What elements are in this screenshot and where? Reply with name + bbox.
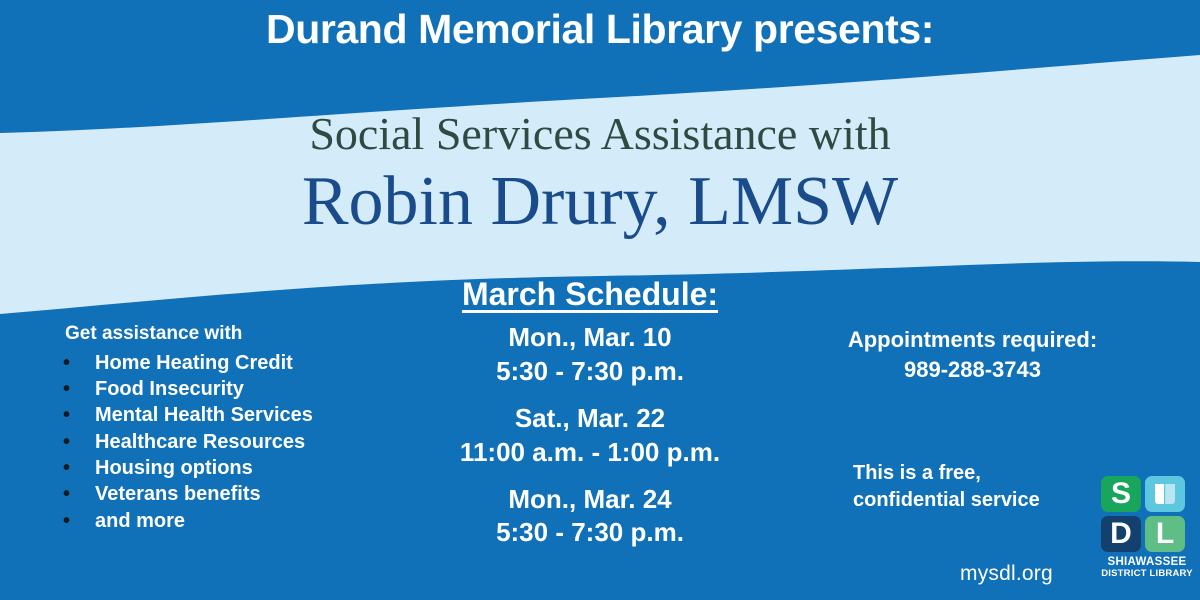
session-date: Mon., Mar. 10 bbox=[390, 321, 790, 355]
bullet-icon: • bbox=[63, 508, 70, 534]
bullet-icon: • bbox=[63, 429, 70, 455]
list-item-label: Healthcare Resources bbox=[95, 431, 305, 453]
page-title: Durand Memorial Library presents: bbox=[0, 8, 1200, 51]
presenter-name: Robin Drury, LMSW bbox=[0, 163, 1200, 241]
list-item-label: Veterans benefits bbox=[95, 483, 261, 505]
schedule-session: Sat., Mar. 22 11:00 a.m. - 1:00 p.m. bbox=[390, 402, 790, 470]
schedule-session: Mon., Mar. 10 5:30 - 7:30 p.m. bbox=[390, 321, 790, 389]
phone-number[interactable]: 989-288-3743 bbox=[795, 355, 1150, 385]
session-time: 5:30 - 7:30 p.m. bbox=[390, 355, 790, 389]
open-book-icon bbox=[1145, 476, 1185, 512]
logo-caption-line-1: SHIAWASSEE bbox=[1101, 557, 1193, 569]
bullet-icon: • bbox=[63, 455, 70, 481]
appointments-label: Appointments required: bbox=[848, 327, 1097, 352]
logo-tile-s: S bbox=[1101, 476, 1141, 512]
list-item: • Veterans benefits bbox=[45, 481, 415, 507]
logo-tile-grid: S D L bbox=[1101, 476, 1187, 554]
poster-canvas: Durand Memorial Library presents: Social… bbox=[0, 0, 1200, 600]
contact-column: Appointments required: 989-288-3743 This… bbox=[795, 325, 1150, 514]
list-item: • and more bbox=[45, 508, 415, 534]
assistance-intro: Get assistance with bbox=[65, 322, 415, 346]
subtitle-heading: Social Services Assistance with bbox=[0, 108, 1200, 160]
list-item: • Food Insecurity bbox=[45, 376, 415, 402]
list-item-label: Housing options bbox=[95, 457, 253, 479]
appointments-block: Appointments required: 989-288-3743 bbox=[795, 325, 1150, 384]
schedule-session: Mon., Mar. 24 5:30 - 7:30 p.m. bbox=[390, 483, 790, 551]
logo-caption: SHIAWASSEE DISTRICT LIBRARY bbox=[1101, 557, 1193, 578]
list-item: • Housing options bbox=[45, 455, 415, 481]
list-item-label: and more bbox=[95, 510, 185, 532]
schedule-column: March Schedule: Mon., Mar. 10 5:30 - 7:3… bbox=[390, 275, 790, 563]
session-date: Mon., Mar. 24 bbox=[390, 483, 790, 517]
list-item: • Home Heating Credit bbox=[45, 350, 415, 376]
list-item: • Healthcare Resources bbox=[45, 429, 415, 455]
bullet-icon: • bbox=[63, 350, 70, 376]
logo-tile-l: L bbox=[1145, 516, 1185, 552]
list-item-label: Food Insecurity bbox=[95, 378, 244, 400]
bullet-icon: • bbox=[63, 402, 70, 428]
session-time: 5:30 - 7:30 p.m. bbox=[390, 516, 790, 550]
list-item: • Mental Health Services bbox=[45, 402, 415, 428]
website-url[interactable]: mysdl.org bbox=[960, 562, 1053, 586]
schedule-title: March Schedule: bbox=[390, 275, 790, 313]
logo-tile-d: D bbox=[1101, 516, 1141, 552]
assistance-list: • Home Heating Credit • Food Insecurity … bbox=[45, 350, 415, 534]
assistance-column: Get assistance with • Home Heating Credi… bbox=[45, 322, 415, 534]
bullet-icon: • bbox=[63, 376, 70, 402]
free-service-note: This is a free, confidential service bbox=[795, 460, 1150, 514]
list-item-label: Mental Health Services bbox=[95, 404, 313, 426]
session-time: 11:00 a.m. - 1:00 p.m. bbox=[390, 436, 790, 470]
logo-caption-line-2: DISTRICT LIBRARY bbox=[1101, 569, 1193, 579]
bullet-icon: • bbox=[63, 481, 70, 507]
sdl-logo[interactable]: S D L SHIAWASSEE DISTRICT LIBRARY bbox=[1101, 476, 1193, 588]
session-date: Sat., Mar. 22 bbox=[390, 402, 790, 436]
list-item-label: Home Heating Credit bbox=[95, 352, 293, 374]
